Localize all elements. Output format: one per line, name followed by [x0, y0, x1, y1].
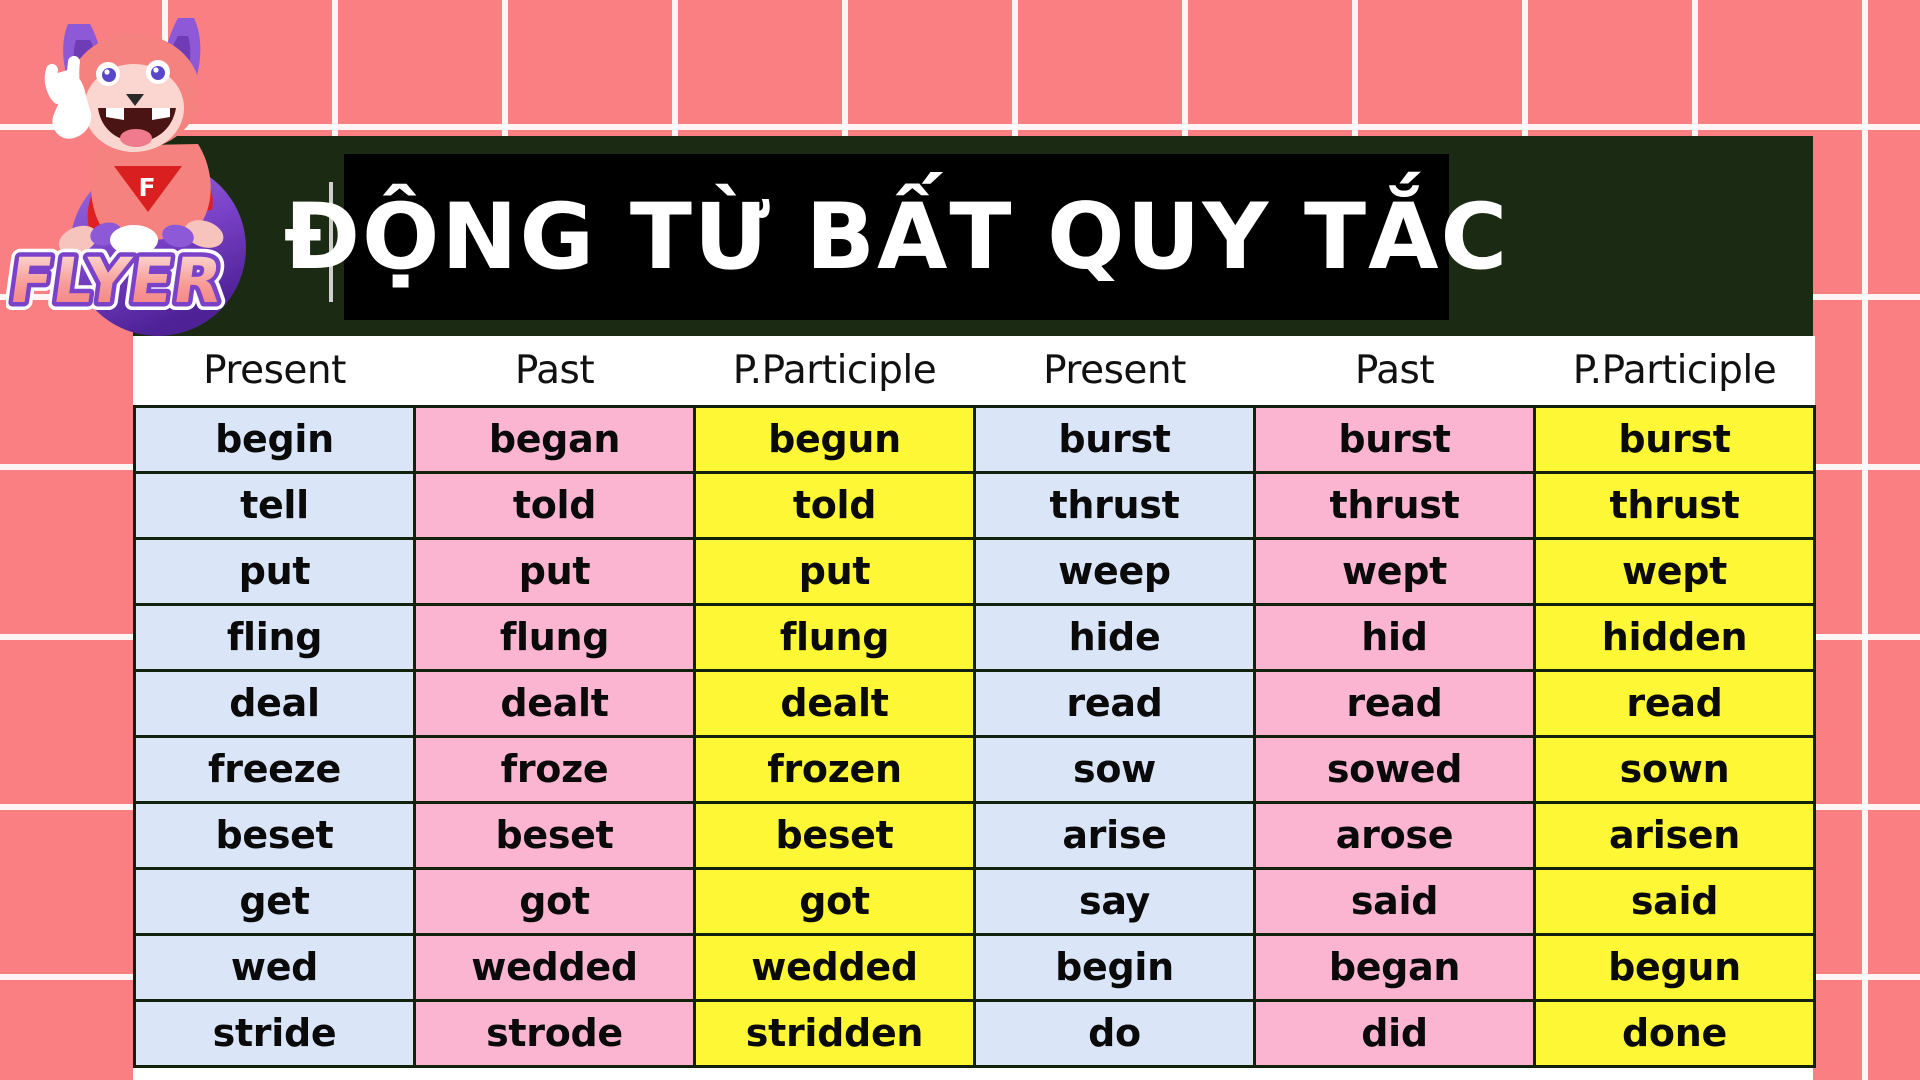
table-row: dealdealtdealtreadreadread: [135, 670, 1815, 736]
verb-cell-left-past: told: [415, 472, 695, 538]
verb-cell-right-participle: burst: [1535, 406, 1815, 472]
verb-cell-left-past: wedded: [415, 934, 695, 1000]
verb-cell-right-present: hide: [975, 604, 1255, 670]
table-header-row: Present Past P.Participle Present Past P…: [135, 336, 1815, 406]
verb-cell-right-present: arise: [975, 802, 1255, 868]
verb-cell-right-participle: hidden: [1535, 604, 1815, 670]
column-header-participle-left: P.Participle: [695, 336, 975, 406]
verb-cell-left-participle: begun: [695, 406, 975, 472]
verb-cell-left-present: beset: [135, 802, 415, 868]
verb-cell-right-participle: wept: [1535, 538, 1815, 604]
table-row: flingflungflunghidehidhidden: [135, 604, 1815, 670]
column-header-past-right: Past: [1255, 336, 1535, 406]
verb-cell-left-present: begin: [135, 406, 415, 472]
table-row: wedweddedweddedbeginbeganbegun: [135, 934, 1815, 1000]
verb-cell-left-past: got: [415, 868, 695, 934]
verb-cell-left-participle: told: [695, 472, 975, 538]
verb-cell-right-past: wept: [1255, 538, 1535, 604]
verb-cell-right-past: read: [1255, 670, 1535, 736]
verb-cell-left-past: began: [415, 406, 695, 472]
flyer-logo[interactable]: F FLYER FLYER FLY: [6, 0, 316, 346]
page-title: ĐỘNG TỪ BẤT QUY TẮC: [284, 192, 1510, 283]
table-row: freezefrozefrozensowsowedsown: [135, 736, 1815, 802]
column-header-present-right: Present: [975, 336, 1255, 406]
verb-cell-right-participle: arisen: [1535, 802, 1815, 868]
title-banner: ĐỘNG TỪ BẤT QUY TẮC: [133, 136, 1813, 336]
verb-cell-right-participle: read: [1535, 670, 1815, 736]
verb-cell-right-present: begin: [975, 934, 1255, 1000]
title-plate: ĐỘNG TỪ BẤT QUY TẮC: [344, 154, 1449, 320]
verb-cell-left-participle: put: [695, 538, 975, 604]
verb-cell-left-participle: beset: [695, 802, 975, 868]
irregular-verbs-table-card: Present Past P.Participle Present Past P…: [133, 336, 1813, 1080]
verb-cell-right-past: did: [1255, 1000, 1535, 1066]
verb-cell-left-participle: frozen: [695, 736, 975, 802]
verb-cell-right-present: say: [975, 868, 1255, 934]
verb-cell-left-past: put: [415, 538, 695, 604]
verb-cell-left-present: wed: [135, 934, 415, 1000]
verb-cell-right-present: burst: [975, 406, 1255, 472]
verb-cell-right-participle: said: [1535, 868, 1815, 934]
table-row: putputputweepweptwept: [135, 538, 1815, 604]
verb-cell-left-present: put: [135, 538, 415, 604]
verb-cell-right-participle: sown: [1535, 736, 1815, 802]
table-row: getgotgotsaysaidsaid: [135, 868, 1815, 934]
verb-cell-left-participle: flung: [695, 604, 975, 670]
verb-cell-left-present: get: [135, 868, 415, 934]
verb-cell-right-past: sowed: [1255, 736, 1535, 802]
verb-cell-right-present: weep: [975, 538, 1255, 604]
table-row: telltoldtoldthrustthrustthrust: [135, 472, 1815, 538]
verb-cell-right-present: do: [975, 1000, 1255, 1066]
cape-letter: F: [138, 173, 155, 202]
verb-cell-right-present: read: [975, 670, 1255, 736]
verb-cell-right-participle: begun: [1535, 934, 1815, 1000]
verb-cell-left-participle: dealt: [695, 670, 975, 736]
verb-cell-left-past: froze: [415, 736, 695, 802]
verb-cell-right-present: sow: [975, 736, 1255, 802]
verb-cell-left-participle: wedded: [695, 934, 975, 1000]
verb-cell-right-past: thrust: [1255, 472, 1535, 538]
verb-cell-right-present: thrust: [975, 472, 1255, 538]
verb-cell-right-past: burst: [1255, 406, 1535, 472]
irregular-verbs-table: Present Past P.Participle Present Past P…: [133, 336, 1816, 1068]
svg-text:FLYER: FLYER: [6, 244, 228, 317]
verb-cell-right-past: began: [1255, 934, 1535, 1000]
verb-cell-left-participle: got: [695, 868, 975, 934]
verb-cell-left-past: strode: [415, 1000, 695, 1066]
logo-wordmark: FLYER FLYER FLYER: [6, 244, 228, 317]
verb-cell-left-present: tell: [135, 472, 415, 538]
verb-cell-left-past: flung: [415, 604, 695, 670]
table-row: besetbesetbesetarisearosearisen: [135, 802, 1815, 868]
verb-cell-left-participle: stridden: [695, 1000, 975, 1066]
column-header-present-left: Present: [135, 336, 415, 406]
verb-cell-right-past: arose: [1255, 802, 1535, 868]
column-header-participle-right: P.Participle: [1535, 336, 1815, 406]
verb-cell-left-present: fling: [135, 604, 415, 670]
column-header-past-left: Past: [415, 336, 695, 406]
table-body: beginbeganbegunburstburstbursttelltoldto…: [135, 406, 1815, 1066]
verb-cell-left-present: stride: [135, 1000, 415, 1066]
verb-cell-right-participle: thrust: [1535, 472, 1815, 538]
verb-cell-left-past: beset: [415, 802, 695, 868]
verb-cell-left-present: deal: [135, 670, 415, 736]
verb-cell-right-participle: done: [1535, 1000, 1815, 1066]
table-row: beginbeganbegunburstburstburst: [135, 406, 1815, 472]
verb-cell-left-present: freeze: [135, 736, 415, 802]
table-row: stridestrodestriddendodiddone: [135, 1000, 1815, 1066]
flyer-logo-graphic: F FLYER FLYER FLY: [6, 0, 316, 346]
verb-cell-right-past: hid: [1255, 604, 1535, 670]
verb-cell-left-past: dealt: [415, 670, 695, 736]
verb-cell-right-past: said: [1255, 868, 1535, 934]
